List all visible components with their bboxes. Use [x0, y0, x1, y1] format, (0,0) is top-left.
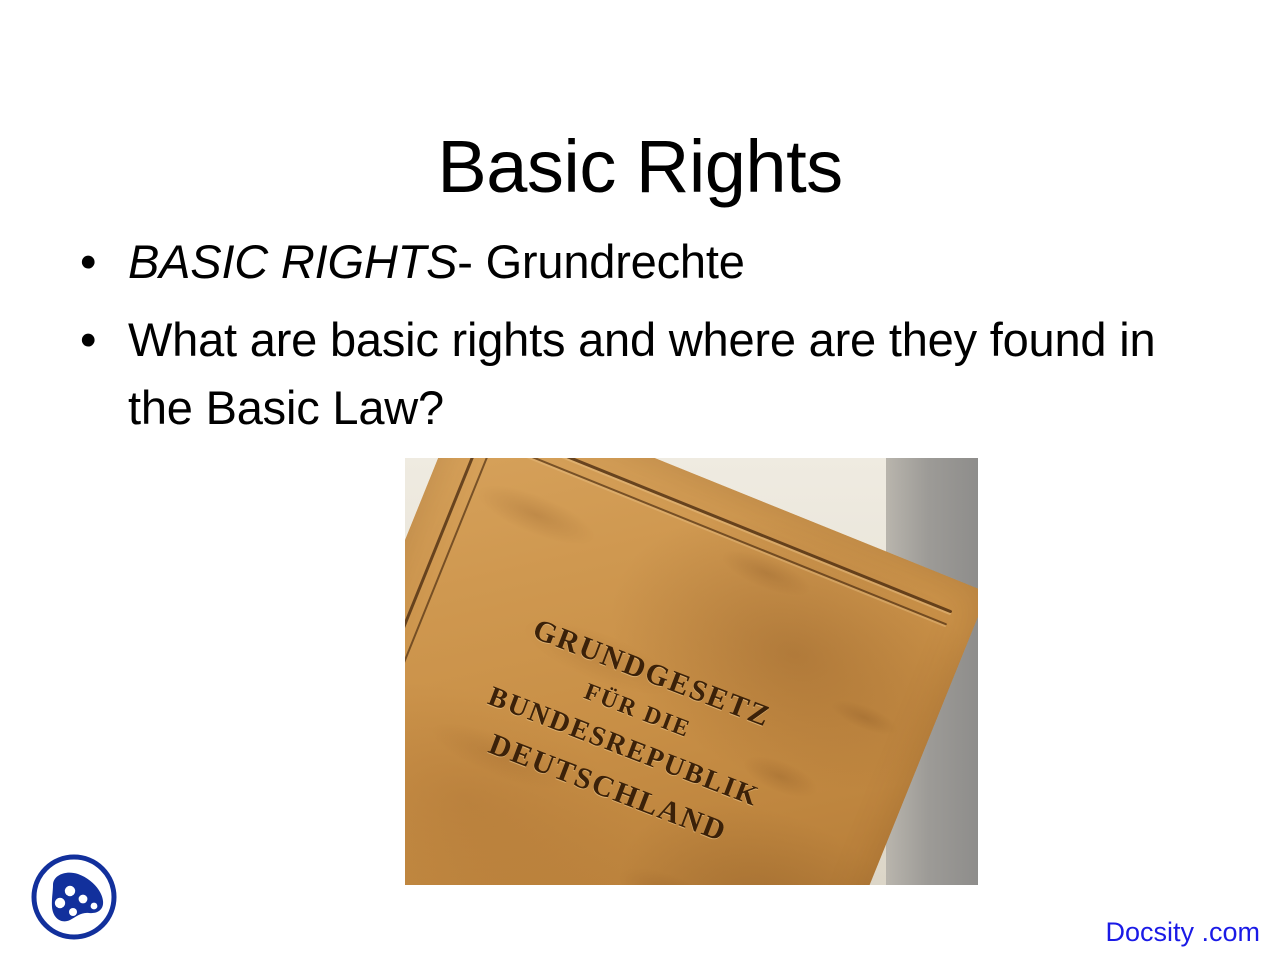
list-item-text: BASIC RIGHTS- Grundrechte: [128, 228, 1202, 296]
page-title: Basic Rights: [0, 124, 1280, 210]
docsity-wordmark: Docsity .com: [1105, 916, 1260, 948]
list-item: • What are basic rights and where are th…: [62, 306, 1202, 442]
list-item-remainder: - Grundrechte: [457, 235, 744, 288]
basic-law-book-image: GRUNDGESETZ FÜR DIE BUNDESREPUBLIK DEUTS…: [405, 458, 978, 885]
list-item-text: What are basic rights and where are they…: [128, 306, 1202, 442]
docsity-logo: [26, 849, 122, 945]
slide-canvas: Basic Rights • BASIC RIGHTS- Grundrechte…: [0, 0, 1280, 960]
list-item: • BASIC RIGHTS- Grundrechte: [62, 228, 1202, 296]
bullet-list: • BASIC RIGHTS- Grundrechte • What are b…: [62, 228, 1202, 452]
bullet-marker-icon: •: [80, 228, 100, 296]
bullet-marker-icon: •: [80, 306, 100, 374]
list-item-emphasis: BASIC RIGHTS: [128, 235, 457, 288]
